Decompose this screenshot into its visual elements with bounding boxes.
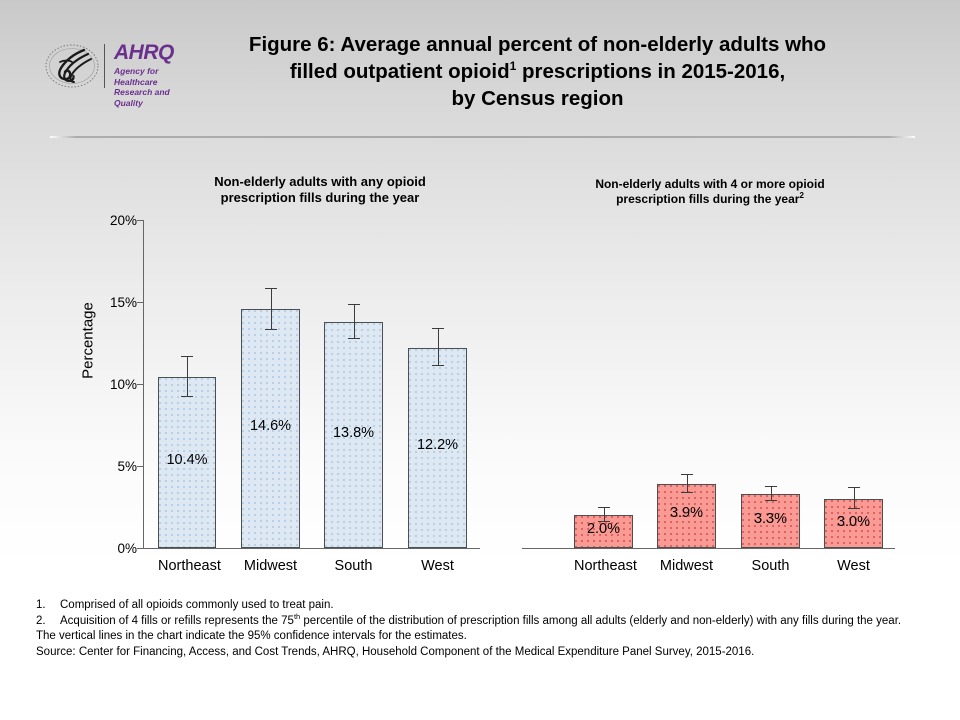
y-axis-line — [143, 220, 144, 548]
y-tick-20: 20% — [95, 213, 137, 228]
errorbar-right-midwest — [661, 474, 713, 493]
footnote-source: Source: Center for Financing, Access, an… — [36, 645, 926, 661]
x-tick-right-northeast: Northeast — [574, 558, 633, 574]
x-tick-left-west: West — [408, 558, 467, 574]
bar-value-right-midwest: 3.9% — [657, 505, 716, 521]
footnote-2-text-a: Acquisition of 4 fills or refills repres… — [60, 615, 294, 627]
y-tick-5: 5% — [95, 459, 137, 474]
y-tick-0: 0% — [95, 541, 137, 556]
errorbar-left-south — [328, 304, 380, 339]
slide-page: AHRQ Agency for Healthcare Research and … — [0, 0, 960, 720]
x-tick-right-midwest: Midwest — [657, 558, 716, 574]
x-tick-left-northeast: Northeast — [158, 558, 216, 574]
errorbar-right-west — [828, 487, 880, 509]
x-tick-left-midwest: Midwest — [241, 558, 300, 574]
errorbar-right-northeast — [578, 507, 630, 522]
errorbar-left-midwest — [245, 288, 297, 330]
footnote-1: 1.Comprised of all opioids commonly used… — [36, 598, 926, 614]
bar-value-right-northeast: 2.0% — [574, 521, 633, 537]
x-axis-line-left-panel — [143, 548, 480, 549]
footnote-2-text-b: percentile of the distribution of prescr… — [300, 615, 901, 627]
footnotes-block: 1.Comprised of all opioids commonly used… — [36, 598, 926, 660]
x-tick-right-south: South — [741, 558, 800, 574]
footnote-1-text: Comprised of all opioids commonly used t… — [60, 599, 334, 611]
y-tick-15: 15% — [95, 295, 137, 310]
errorbar-left-west — [412, 328, 464, 366]
bar-value-left-west: 12.2% — [408, 437, 467, 453]
y-tick-10: 10% — [95, 377, 137, 392]
footnote-1-number: 1. — [36, 598, 60, 614]
x-axis-line-right-panel — [522, 548, 895, 549]
errorbar-right-south — [745, 486, 797, 501]
bar-value-left-midwest: 14.6% — [241, 418, 300, 434]
y-axis-label: Percentage — [80, 251, 97, 431]
footnote-2: 2.Acquisition of 4 fills or refills repr… — [36, 614, 926, 630]
bar-value-left-northeast: 10.4% — [158, 452, 216, 468]
x-tick-left-south: South — [324, 558, 383, 574]
errorbar-left-northeast — [161, 356, 213, 397]
footnote-2-number: 2. — [36, 614, 60, 630]
bar-value-left-south: 13.8% — [324, 425, 383, 441]
bar-value-right-south: 3.3% — [741, 511, 800, 527]
x-tick-right-west: West — [824, 558, 883, 574]
footnote-ci-note: The vertical lines in the chart indicate… — [36, 629, 926, 645]
bar-value-right-west: 3.0% — [824, 514, 883, 530]
